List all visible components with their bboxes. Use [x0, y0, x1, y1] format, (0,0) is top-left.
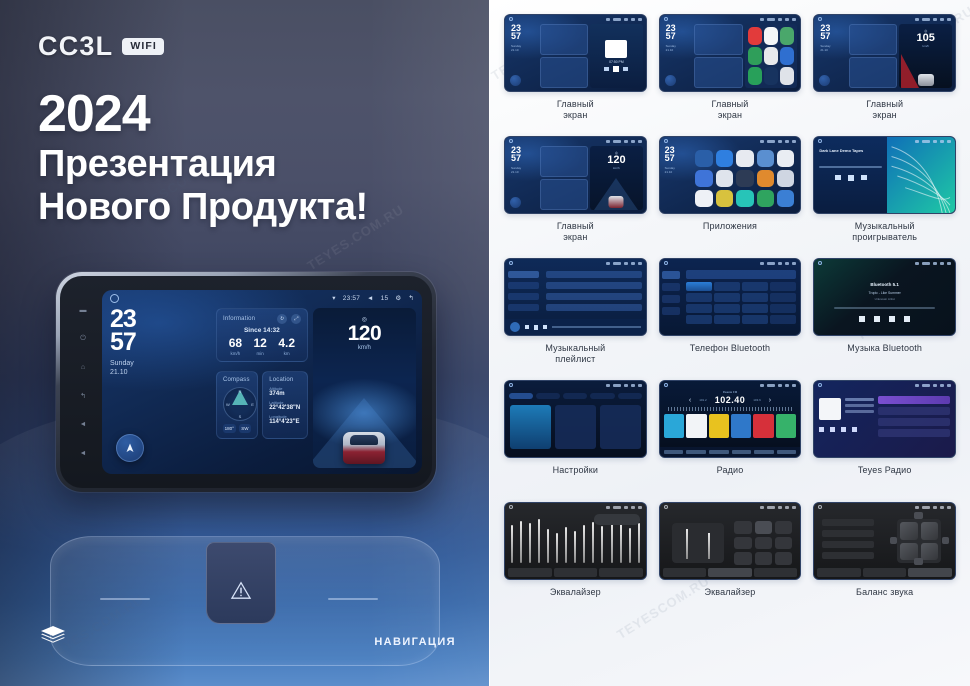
thumbnail-home-apps[interactable]: 2357Sunday21.10 — [659, 14, 802, 92]
bt-artist: Unknown Artist — [875, 297, 895, 301]
previous-icon[interactable] — [819, 427, 824, 432]
teyes-now-playing — [819, 390, 874, 457]
next-icon[interactable] — [841, 427, 846, 432]
sidebar-item-albums[interactable] — [508, 282, 539, 289]
pause-icon[interactable] — [848, 175, 854, 181]
preset-rock[interactable] — [734, 537, 751, 550]
tab-eq[interactable] — [817, 568, 861, 577]
dial-key-7[interactable] — [686, 304, 712, 313]
gallery-item[interactable]: 2357Sunday21.10 — [659, 136, 802, 258]
sidebar-item-dialpad[interactable] — [662, 271, 681, 279]
gallery-item[interactable]: 2357Sunday21.10 ◎ 120 km/h — [504, 136, 647, 258]
information-card[interactable]: Information ↻ ⤢ Since 14:32 — [216, 308, 308, 362]
back-arrow-icon[interactable]: ↰ — [408, 294, 414, 302]
gear-icon[interactable]: ⚙ — [395, 294, 401, 302]
mini-widgets — [849, 24, 897, 88]
tab-presets[interactable] — [708, 568, 752, 577]
preset-2[interactable] — [686, 414, 706, 438]
side-key-home-icon[interactable]: ⌂ — [81, 364, 85, 371]
sidebar-item-folders[interactable] — [508, 304, 539, 311]
headline-block: 2024 Презентация Нового Продукта! — [38, 88, 458, 230]
tile-wifi[interactable] — [510, 405, 551, 449]
stop-icon[interactable] — [889, 316, 895, 322]
tile-carplay[interactable] — [555, 405, 596, 449]
app-icon-youtube[interactable] — [748, 27, 762, 45]
next-icon[interactable] — [543, 325, 547, 329]
tab-balance[interactable] — [908, 568, 952, 577]
phone-sidebar[interactable] — [660, 268, 683, 335]
pause-icon[interactable] — [534, 325, 538, 330]
fader[interactable] — [686, 529, 688, 559]
side-key-menu-icon[interactable]: ▬ — [80, 307, 87, 314]
progress-bar[interactable] — [552, 326, 641, 328]
gallery-caption: Телефон Bluetooth — [690, 343, 770, 354]
thumbnail-home-speed-105[interactable]: 2357Sunday21.10 ◎ 105 km/h — [813, 14, 956, 92]
balance-right-button[interactable] — [942, 537, 949, 544]
mini-compass-card — [849, 57, 897, 88]
thumbnail-equalizer-bars[interactable] — [504, 502, 647, 580]
phone-number-field[interactable] — [686, 270, 796, 279]
dial-key-8[interactable] — [714, 304, 740, 313]
app-icon-spotify[interactable] — [748, 47, 762, 65]
option-right[interactable] — [822, 552, 874, 559]
favorite-icon[interactable] — [852, 427, 857, 432]
sidebar-item-artists[interactable] — [508, 293, 539, 300]
preset-classic[interactable] — [755, 521, 772, 534]
dial-key-5[interactable] — [714, 293, 740, 302]
eq-slider[interactable] — [556, 533, 558, 563]
mini-settings — [505, 381, 646, 457]
settings-tabs[interactable] — [505, 391, 646, 401]
layers-icon — [40, 625, 66, 652]
progress-bar[interactable] — [834, 307, 935, 309]
status-icons — [760, 262, 796, 265]
gallery-item[interactable]: Телефон Bluetooth — [659, 258, 802, 380]
stop-icon[interactable] — [830, 427, 835, 432]
app-icon-keyboard-music[interactable] — [736, 150, 753, 167]
eq-slider[interactable] — [529, 523, 531, 563]
sidebar-item-search[interactable] — [662, 295, 681, 303]
compass-direction: SW — [239, 424, 252, 433]
teyes-station-list[interactable] — [878, 396, 950, 457]
thumbnail-home-speed-120[interactable]: 2357Sunday21.10 ◎ 120 km/h — [504, 136, 647, 214]
radio-tuner[interactable]: ‹ 101.2 102.40 103.6 › — [660, 395, 801, 405]
tab-eq[interactable] — [663, 568, 707, 577]
previous-icon[interactable] — [525, 325, 529, 329]
balance-up-button[interactable] — [914, 512, 923, 519]
settings-tiles[interactable] — [505, 401, 646, 453]
app-icon-music-player[interactable] — [736, 190, 753, 207]
expand-icon[interactable]: ⤢ — [291, 314, 301, 324]
dial-key-2[interactable] — [714, 282, 740, 291]
now-playing-bar[interactable] — [505, 319, 646, 335]
navigation-arrow-icon[interactable] — [116, 434, 144, 462]
call-button[interactable] — [770, 304, 796, 313]
toolbar-scan[interactable] — [686, 450, 706, 454]
gallery-item[interactable]: Музыкальный плейлист — [504, 258, 647, 380]
gallery-item[interactable]: Эквалайзер — [504, 502, 647, 624]
mini-app-shortcuts[interactable] — [745, 24, 798, 88]
dialpad-area[interactable] — [682, 268, 800, 335]
tab-sound[interactable] — [536, 393, 560, 399]
mini-widgets — [694, 24, 742, 88]
preset-flat[interactable] — [734, 521, 751, 534]
home-icon — [818, 139, 822, 143]
toolbar-list[interactable] — [709, 450, 729, 454]
information-card-actions[interactable]: ↻ ⤢ — [277, 314, 301, 324]
preset-jazz[interactable] — [755, 537, 772, 550]
altitude-value: 374m — [269, 391, 301, 397]
speaker-front-right[interactable] — [921, 522, 939, 540]
next-icon[interactable] — [623, 67, 628, 71]
stat-unit: km — [278, 351, 295, 356]
volume-icon[interactable]: ◄ — [367, 295, 374, 302]
navigation-arrow-icon[interactable] — [510, 197, 521, 208]
eq-slider[interactable] — [592, 522, 594, 563]
home-icon[interactable] — [110, 294, 119, 303]
teyes-controls[interactable] — [819, 427, 874, 432]
location-card[interactable]: Location Altitude 374m Latitude 22°42'38… — [262, 371, 308, 439]
head-unit-side-keys[interactable]: ▬ ⏻ ⌂ ↰ ◄ ◄ — [70, 290, 96, 474]
side-key-volume-down-icon[interactable]: ◄ — [80, 421, 87, 428]
preset-bass[interactable] — [755, 552, 772, 565]
preset-dance[interactable] — [734, 552, 751, 565]
preset-1[interactable] — [664, 414, 684, 438]
preset-stations[interactable] — [660, 411, 801, 441]
next-frequency: 103.6 — [753, 398, 761, 402]
speed-value: 105 — [917, 33, 935, 44]
thumb-status-bar — [505, 381, 646, 389]
list-item[interactable] — [878, 418, 950, 426]
gallery-caption: Эквалайзер — [705, 587, 756, 598]
progress-bar[interactable] — [819, 166, 882, 168]
compass-dir-w: W — [226, 402, 230, 407]
speed-readout: ◎ 120 km/h — [313, 316, 416, 351]
clock-widget[interactable]: 23 57 Sunday 21.10 — [110, 308, 211, 468]
side-key-volume-up-icon[interactable]: ◄ — [80, 450, 87, 457]
mini-widgets — [540, 146, 588, 210]
altitude-row: Altitude 374m — [269, 386, 301, 397]
thumbnail-home-media[interactable]: 2357Sunday21.10 07:50 PM — [504, 14, 647, 92]
preset-pop[interactable] — [775, 521, 792, 534]
mini-info-card — [694, 24, 742, 55]
status-icons — [915, 506, 951, 509]
thumbnail-music-player[interactable]: Dark Lane Demo Tapes — [813, 136, 956, 214]
fader[interactable] — [708, 533, 710, 559]
preset-3[interactable] — [709, 414, 729, 438]
status-icons — [606, 506, 642, 509]
list-item[interactable] — [878, 396, 950, 404]
side-key-power-icon[interactable]: ⏻ — [80, 335, 86, 342]
app-icon-file-manager[interactable] — [757, 170, 774, 187]
gallery-item[interactable]: Teyes Радио — [813, 380, 956, 502]
radio-toolbar[interactable] — [660, 447, 801, 457]
compass-card[interactable]: Compass N E S W — [216, 371, 258, 439]
list-item[interactable] — [546, 282, 642, 289]
app-icon-mail[interactable] — [780, 47, 794, 65]
gallery-item[interactable]: Bluetooth 5.1 Tropic - Like Summer Unkno… — [813, 258, 956, 380]
app-icon-gallery[interactable] — [777, 170, 794, 187]
previous-icon[interactable] — [604, 67, 609, 71]
sidebar-item-history[interactable] — [662, 307, 681, 315]
gallery-item[interactable]: 2357Sunday21.10 07:50 PM — [504, 14, 647, 136]
app-icon-chrome[interactable] — [764, 27, 778, 45]
home-icon — [818, 505, 822, 509]
preset-5[interactable] — [753, 414, 773, 438]
thumbnail-equalizer-presets[interactable] — [659, 502, 802, 580]
compass-card-title: Compass — [223, 377, 251, 383]
balance-pad[interactable] — [897, 519, 941, 563]
stat-item: 12 min — [254, 337, 267, 356]
eq-slider[interactable] — [520, 521, 522, 563]
headline-year: 2024 — [38, 88, 458, 141]
app-icon-gallery[interactable] — [764, 47, 778, 65]
dial-key-0[interactable] — [714, 315, 740, 324]
list-item[interactable] — [878, 429, 950, 437]
toolbar-band[interactable] — [664, 450, 684, 454]
equalizer-tabs[interactable] — [508, 568, 643, 577]
dial-key-1[interactable] — [686, 282, 712, 291]
gallery-item[interactable]: 2357Sunday21.10 — [659, 14, 802, 136]
tab-presets[interactable] — [863, 568, 907, 577]
mini-media-widget: 07:50 PM — [590, 24, 643, 88]
navigation-arrow-icon[interactable] — [665, 75, 676, 86]
hazard-button[interactable] — [206, 542, 276, 624]
preset-custom[interactable] — [775, 552, 792, 565]
tab-balance[interactable] — [754, 568, 798, 577]
app-icon-calculator[interactable] — [757, 150, 774, 167]
next-icon[interactable] — [861, 175, 867, 180]
dialpad-grid[interactable] — [686, 282, 796, 324]
app-icon-all-apps[interactable] — [780, 67, 794, 85]
app-icon-chrome[interactable] — [695, 170, 712, 187]
vent-slat — [100, 598, 150, 600]
thumb-status-bar — [660, 381, 801, 389]
gallery-row: Эквалайзер — [504, 502, 956, 624]
dial-key-star[interactable] — [770, 282, 796, 291]
tab-eq[interactable] — [508, 568, 552, 577]
play-pause-icon[interactable] — [874, 316, 880, 322]
clock-minutes: 57 — [110, 331, 211, 354]
eq-slider[interactable] — [611, 520, 613, 563]
side-key-back-icon[interactable]: ↰ — [80, 393, 86, 400]
eq-slider[interactable] — [511, 525, 513, 563]
eq-slider[interactable] — [565, 527, 567, 563]
tab-display[interactable] — [563, 393, 587, 399]
eq-slider[interactable] — [583, 525, 585, 563]
app-icon-google[interactable] — [695, 190, 712, 207]
mini-speed-widget: ◎ 120 km/h — [590, 146, 643, 210]
thumbnail-playlist[interactable] — [504, 258, 647, 336]
dial-key-4[interactable] — [686, 293, 712, 302]
speaker-front-left[interactable] — [900, 522, 918, 540]
tile-more[interactable] — [600, 405, 641, 449]
tab-wifi[interactable] — [509, 393, 533, 399]
thumbnail-teyes-radio[interactable] — [813, 380, 956, 458]
bt-version-label: Bluetooth 5.1 — [870, 282, 899, 287]
stat-unit: km/h — [229, 351, 242, 356]
dial-key-hash[interactable] — [742, 315, 768, 324]
preset-vocal[interactable] — [775, 537, 792, 550]
previous-station-icon[interactable]: ‹ — [689, 397, 691, 404]
preset-6[interactable] — [776, 414, 796, 438]
screen-body: 23 57 Sunday 21.10 — [110, 308, 416, 468]
thumbnail-bt-phone[interactable] — [659, 258, 802, 336]
playback-controls[interactable] — [819, 175, 882, 181]
eq-slider[interactable] — [574, 531, 576, 563]
home-icon — [509, 139, 513, 143]
app-icon-contacts[interactable] — [777, 150, 794, 167]
toolbar-eq[interactable] — [732, 450, 752, 454]
app-icon-maps[interactable] — [716, 190, 733, 207]
logo-wifi-badge: WIFI — [122, 38, 164, 55]
equalizer-sliders[interactable] — [511, 521, 640, 563]
app-icon-camera[interactable] — [716, 170, 733, 187]
head-unit-screen[interactable]: ▾ 23:57 ◄ 15 ⚙ ↰ 23 — [102, 290, 422, 474]
thumbnail-sound-balance[interactable] — [813, 502, 956, 580]
thumbnail-bt-music[interactable]: Bluetooth 5.1 Tropic - Like Summer Unkno… — [813, 258, 956, 336]
dial-key-plus[interactable] — [770, 315, 796, 324]
home-icon — [664, 383, 668, 387]
navigation-label: НАВИГАЦИЯ — [374, 636, 456, 648]
track-time: 07:50 PM — [609, 60, 624, 64]
previous-frequency: 101.2 — [699, 398, 707, 402]
dial-key-6[interactable] — [742, 293, 768, 302]
tab-apps[interactable] — [590, 393, 614, 399]
dial-key-9[interactable] — [742, 304, 768, 313]
equalizer-tabs[interactable] — [663, 568, 798, 577]
app-icon-radio[interactable] — [777, 190, 794, 207]
mini-widget-row: Compass N E S W — [216, 371, 308, 439]
list-item[interactable] — [546, 293, 642, 300]
dial-key-backspace[interactable] — [770, 293, 796, 302]
eq-preset-selector[interactable] — [594, 514, 640, 525]
sidebar-item-contacts[interactable] — [662, 283, 681, 291]
speed-widget[interactable]: ◎ 120 km/h — [313, 308, 416, 468]
longitude-row: Longitude 114°4'23"E — [269, 414, 301, 425]
clock-weekday: Sunday — [110, 359, 211, 368]
album-art — [510, 322, 520, 332]
tab-balance[interactable] — [554, 568, 598, 577]
thumbnail-radio[interactable]: Режим FM ‹ 101.2 102.40 103.6 › — [659, 380, 802, 458]
eq-slider[interactable] — [547, 529, 549, 563]
eq-slider[interactable] — [538, 519, 540, 563]
eq-slider[interactable] — [629, 528, 631, 563]
list-item[interactable] — [546, 304, 642, 311]
gallery-item[interactable]: Эквалайзер — [659, 502, 802, 624]
music-track-title: Dark Lane Demo Tapes — [819, 148, 882, 153]
list-item[interactable] — [878, 407, 950, 415]
gallery-item[interactable]: Баланс звука — [813, 502, 956, 624]
playback-controls[interactable] — [859, 316, 910, 322]
tab-system[interactable] — [618, 393, 642, 399]
dial-key-3[interactable] — [742, 282, 768, 291]
clock-date: 21.10 — [110, 368, 211, 377]
navigation-arrow-icon[interactable] — [510, 75, 521, 86]
thumbnail-settings[interactable] — [504, 380, 647, 458]
app-icon-usb-equalizer[interactable] — [736, 170, 753, 187]
next-icon[interactable] — [904, 316, 910, 322]
gallery-caption: Teyes Радио — [858, 465, 912, 476]
thumb-status-bar — [814, 137, 955, 145]
gallery-item[interactable]: Dark Lane Demo Tapes — [813, 136, 956, 258]
app-icon-bluetooth[interactable] — [716, 150, 733, 167]
app-icon-settings[interactable] — [764, 67, 778, 85]
status-icons — [606, 384, 642, 387]
stop-icon[interactable] — [613, 66, 619, 72]
thumb-status-bar — [814, 259, 955, 267]
option-rear[interactable] — [822, 530, 874, 537]
gallery-caption: Баланс звука — [856, 587, 913, 598]
home-icon — [818, 261, 822, 265]
gallery-item[interactable]: Режим FM ‹ 101.2 102.40 103.6 › — [659, 380, 802, 502]
option-left[interactable] — [822, 541, 874, 548]
toolbar-rds[interactable] — [754, 450, 774, 454]
preset-fader-group[interactable] — [672, 523, 724, 563]
refresh-icon[interactable]: ↻ — [277, 314, 287, 324]
car-illustration — [918, 74, 934, 86]
app-icon-play-store[interactable] — [757, 190, 774, 207]
car-illustration — [609, 196, 624, 208]
media-controls[interactable] — [604, 66, 628, 72]
balance-left-button[interactable] — [890, 537, 897, 544]
bt-track-title: Tropic - Like Summer — [869, 291, 901, 295]
thumb-status-bar — [660, 259, 801, 267]
app-icon-maps[interactable] — [780, 27, 794, 45]
thumbnail-apps[interactable]: 2357Sunday21.10 — [659, 136, 802, 214]
status-icons — [606, 18, 642, 21]
stat-value: 68 — [229, 337, 242, 349]
sidebar-item-tracks[interactable] — [508, 271, 539, 278]
thumb-status-bar — [660, 15, 801, 23]
app-drawer-grid[interactable] — [693, 148, 796, 209]
balance-tabs[interactable] — [817, 568, 952, 577]
toolbar-settings[interactable] — [777, 450, 797, 454]
speed-unit: km/h — [922, 44, 929, 48]
next-station-icon[interactable]: › — [769, 397, 771, 404]
eq-slider[interactable] — [638, 523, 640, 563]
gallery-item[interactable]: 2357Sunday21.10 ◎ 105 km/h — [813, 14, 956, 136]
thumb-status-bar — [660, 137, 801, 145]
gallery-item[interactable]: Настройки — [504, 380, 647, 502]
speaker-rear-right[interactable] — [921, 543, 939, 561]
balance-down-button[interactable] — [914, 558, 923, 565]
status-icons — [915, 262, 951, 265]
option-front[interactable] — [822, 519, 874, 526]
meta-line — [845, 404, 874, 407]
speed-unit: km/h — [313, 345, 416, 351]
dial-key-asterisk[interactable] — [686, 315, 712, 324]
app-icon-am[interactable] — [695, 150, 712, 167]
home-icon — [818, 17, 822, 21]
preset-4[interactable] — [731, 414, 751, 438]
eq-slider[interactable] — [620, 524, 622, 563]
gallery-caption: Музыкальный проигрыватель — [852, 221, 917, 242]
stat-value: 4.2 — [278, 337, 295, 349]
latitude-row: Latitude 22°42'38"N — [269, 400, 301, 411]
tab-volume[interactable] — [599, 568, 643, 577]
status-icons — [915, 18, 951, 21]
balance-options[interactable] — [822, 519, 874, 563]
preset-grid[interactable] — [734, 521, 792, 565]
eq-slider[interactable] — [601, 526, 603, 563]
previous-icon[interactable] — [835, 175, 841, 180]
list-item[interactable] — [546, 271, 642, 278]
gallery-caption: Главный экран — [557, 221, 594, 242]
app-icon-play-store[interactable] — [748, 67, 762, 85]
compass-dir-s: S — [239, 414, 242, 419]
previous-icon[interactable] — [859, 316, 865, 322]
